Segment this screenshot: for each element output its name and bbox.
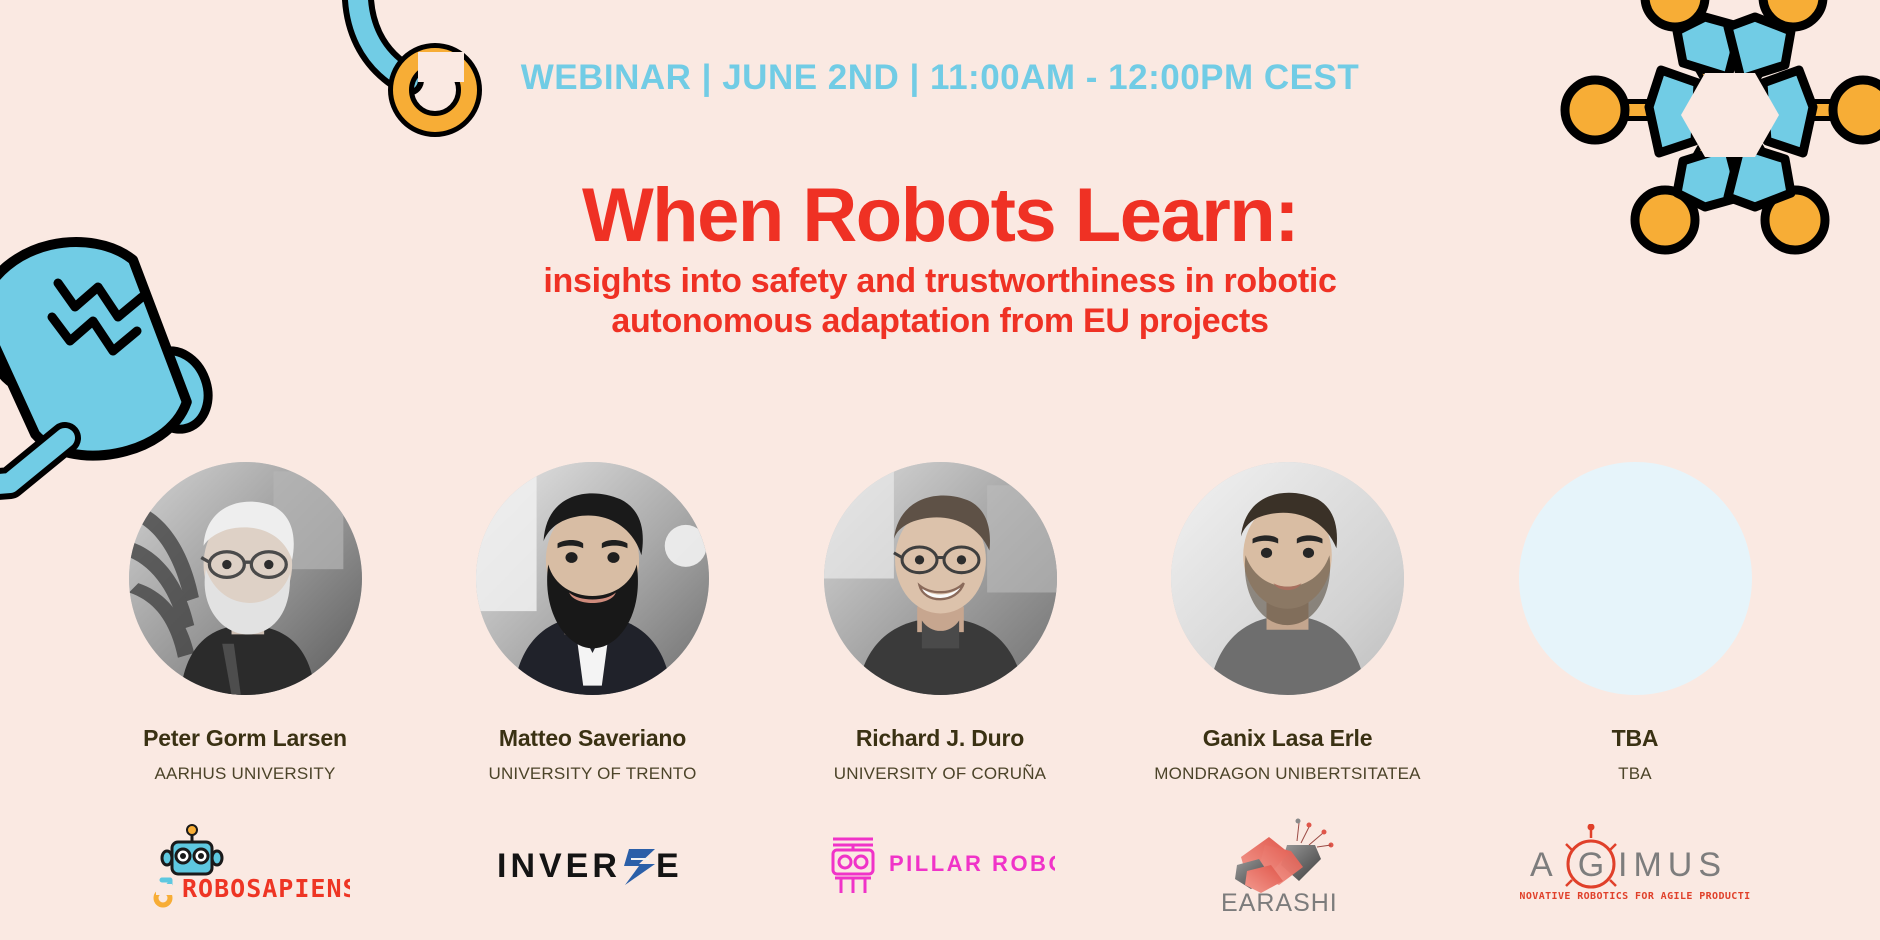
speaker-org: TBA (1618, 764, 1652, 784)
speaker-card: Matteo Saveriano UNIVERSITY OF TRENTO (458, 462, 728, 784)
logo-earashi: EARASHI (1153, 815, 1423, 915)
speaker-name: Ganix Lasa Erle (1203, 725, 1373, 752)
portrait-matteo-saveriano (476, 462, 709, 695)
logo-agimus-text-left: A (1530, 846, 1556, 884)
title-block: When Robots Learn: insights into safety … (0, 178, 1880, 342)
portrait-placeholder (1519, 462, 1752, 695)
svg-text:G: G (1578, 846, 1604, 884)
webinar-poster: WEBINAR | JUNE 2ND | 11:00AM - 12:00PM C… (0, 0, 1880, 940)
speakers-row: Peter Gorm Larsen AARHUS UNIVERSITY (110, 462, 1770, 784)
page-title: When Robots Learn: (0, 178, 1880, 254)
svg-text:E: E (656, 847, 683, 885)
speaker-org: UNIVERSITY OF TRENTO (488, 764, 696, 784)
speaker-name: Richard J. Duro (856, 725, 1024, 752)
speaker-card: Peter Gorm Larsen AARHUS UNIVERSITY (110, 462, 380, 784)
speaker-card: TBA TBA (1500, 462, 1770, 784)
logo-agimus: G A IMUS INNOVATIVE ROBOTICS FOR AGILE P… (1500, 815, 1770, 915)
webinar-kicker: WEBINAR | JUNE 2ND | 11:00AM - 12:00PM C… (0, 58, 1880, 98)
page-subtitle-line-2: autonomous adaptation from EU projects (0, 302, 1880, 342)
logo-robosapiens-text: ROBOSAPIENS (182, 874, 350, 903)
speaker-name: Matteo Saveriano (499, 725, 686, 752)
logo-pillar-robots-text: PILLAR ROBOTS (889, 851, 1055, 876)
speaker-org: MONDRAGON UNIBERTSITATEA (1154, 764, 1420, 784)
logo-robosapiens: ROBOSAPIENS (110, 815, 380, 915)
page-subtitle-line-1: insights into safety and trustworthiness… (0, 262, 1880, 302)
logo-agimus-text-right: IMUS (1618, 846, 1727, 884)
speaker-card: Richard J. Duro UNIVERSITY OF CORUÑA (805, 462, 1075, 784)
speaker-org: AARHUS UNIVERSITY (155, 764, 336, 784)
logo-pillar-robots: PILLAR ROBOTS (805, 815, 1075, 915)
portrait-ganix-lasa-erle (1171, 462, 1404, 695)
logo-inverse: INVER E (458, 815, 728, 915)
speaker-name: Peter Gorm Larsen (143, 725, 347, 752)
speaker-name: TBA (1612, 725, 1659, 752)
portrait-richard-j-duro (824, 462, 1057, 695)
page-subtitle: insights into safety and trustworthiness… (0, 262, 1880, 342)
portrait-peter-gorm-larsen (129, 462, 362, 695)
logo-earashi-text: EARASHI (1221, 889, 1338, 915)
speaker-card: Ganix Lasa Erle MONDRAGON UNIBERTSITATEA (1153, 462, 1423, 784)
partner-logos-row: ROBOSAPIENS INVER E (110, 810, 1770, 920)
logo-inverse-text: INVER (497, 847, 621, 885)
speaker-org: UNIVERSITY OF CORUÑA (834, 764, 1046, 784)
logo-agimus-tagline: INNOVATIVE ROBOTICS FOR AGILE PRODUCTION (1520, 891, 1750, 902)
